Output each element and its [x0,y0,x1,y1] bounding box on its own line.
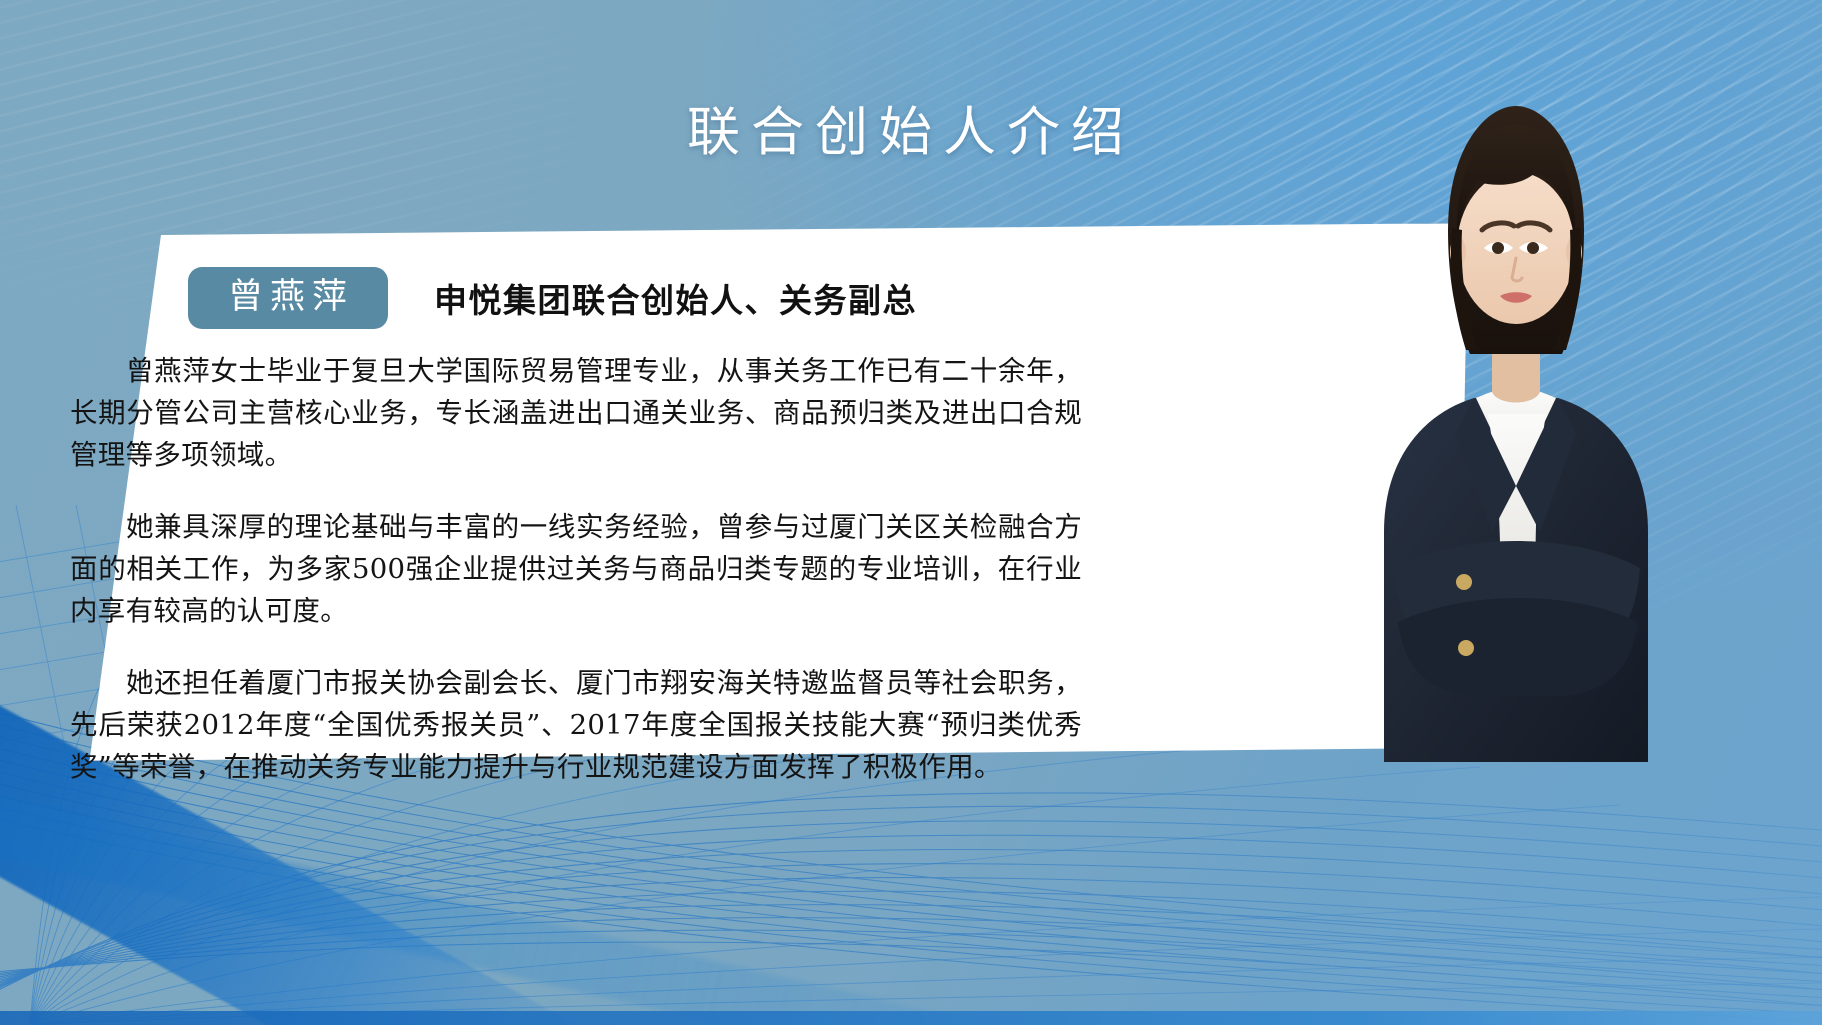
slide-canvas: 联合创始人介绍 曾燕萍 申悦集团联合创始人、关务副总 曾燕萍女士毕业于复旦大学国… [0,0,1822,1025]
profile-body-text: 曾燕萍女士毕业于复旦大学国际贸易管理专业，从事关务工作已有二十余年，长期分管公司… [70,350,1082,788]
page-title: 联合创始人介绍 [0,90,1822,166]
profile-paragraph: 她兼具深厚的理论基础与丰富的一线实务经验，曾参与过厦门关区关检融合方面的相关工作… [70,506,1082,632]
profile-header-row: 曾燕萍 申悦集团联合创始人、关务副总 [188,267,917,329]
role-title: 申悦集团联合创始人、关务副总 [434,274,917,322]
bottom-edge-accent [0,1011,1822,1025]
profile-paragraph: 她还担任着厦门市报关协会副会长、厦门市翔安海关特邀监督员等社会职务，先后荣获20… [70,662,1082,788]
profile-card-content: 曾燕萍 申悦集团联合创始人、关务副总 曾燕萍女士毕业于复旦大学国际贸易管理专业，… [38,222,1468,762]
name-badge: 曾燕萍 [188,267,388,329]
profile-card: 曾燕萍 申悦集团联合创始人、关务副总 曾燕萍女士毕业于复旦大学国际贸易管理专业，… [38,222,1468,762]
profile-paragraph: 曾燕萍女士毕业于复旦大学国际贸易管理专业，从事关务工作已有二十余年，长期分管公司… [70,350,1082,476]
